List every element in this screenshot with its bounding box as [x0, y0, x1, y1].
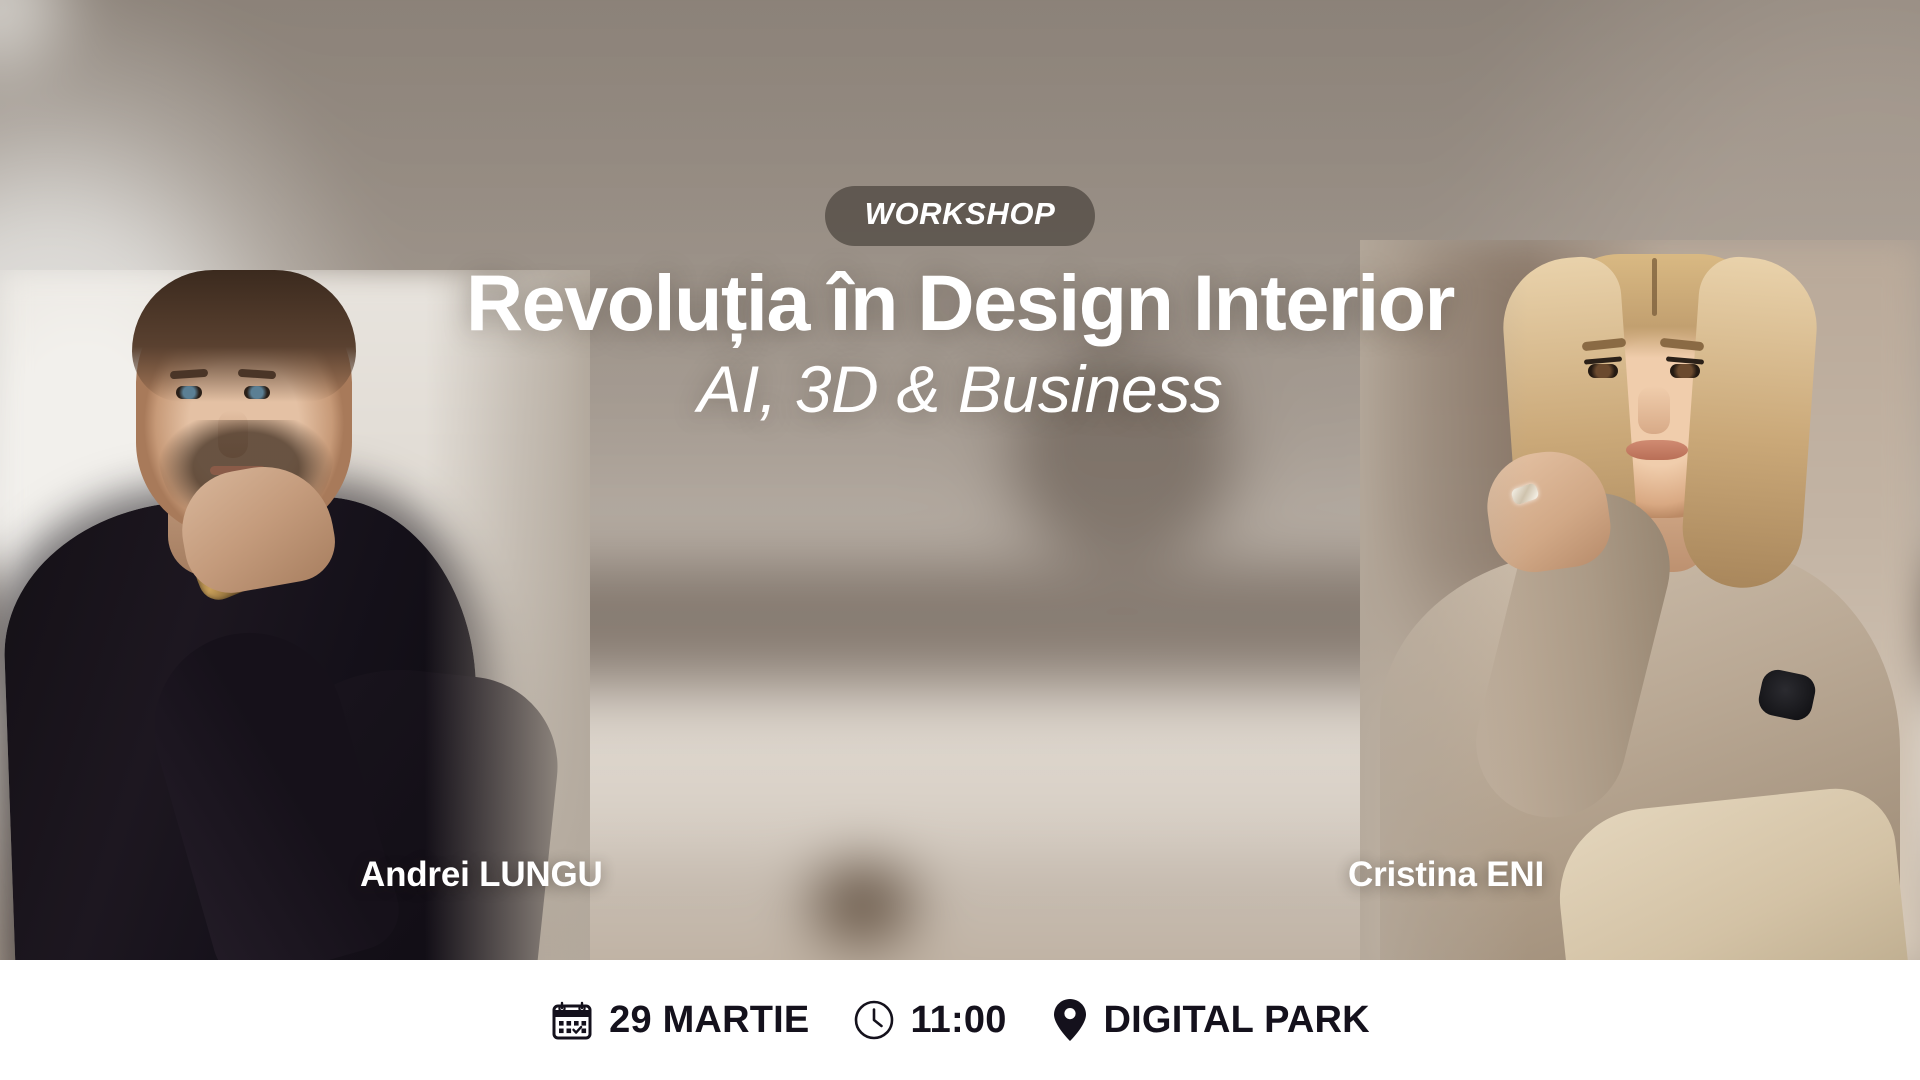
event-venue-label: DIGITAL PARK — [1104, 1001, 1370, 1039]
event-date-label: 29 MARTIE — [609, 1001, 809, 1039]
event-date: 29 MARTIE — [550, 998, 809, 1042]
event-time: 11:00 — [853, 999, 1006, 1041]
speaker-name-right: Cristina ENI — [1348, 855, 1544, 895]
event-time-label: 11:00 — [910, 1001, 1006, 1039]
speaker-name-left: Andrei LUNGU — [360, 855, 603, 895]
calendar-icon — [550, 998, 594, 1042]
page-subtitle: AI, 3D & Business — [0, 353, 1920, 426]
event-poster: WORKSHOP Revoluția în Design Interior AI… — [0, 0, 1920, 1080]
event-venue: DIGITAL PARK — [1051, 997, 1370, 1043]
event-details-bar: 29 MARTIE 11:00 DIGITAL PARK — [0, 960, 1920, 1080]
workshop-badge: WORKSHOP — [825, 186, 1096, 246]
clock-icon — [853, 999, 895, 1041]
map-pin-icon — [1051, 997, 1089, 1043]
hero-banner: WORKSHOP Revoluția în Design Interior AI… — [0, 0, 1920, 960]
headline-stack: WORKSHOP Revoluția în Design Interior AI… — [0, 0, 1920, 426]
page-title: Revoluția în Design Interior — [0, 260, 1920, 345]
